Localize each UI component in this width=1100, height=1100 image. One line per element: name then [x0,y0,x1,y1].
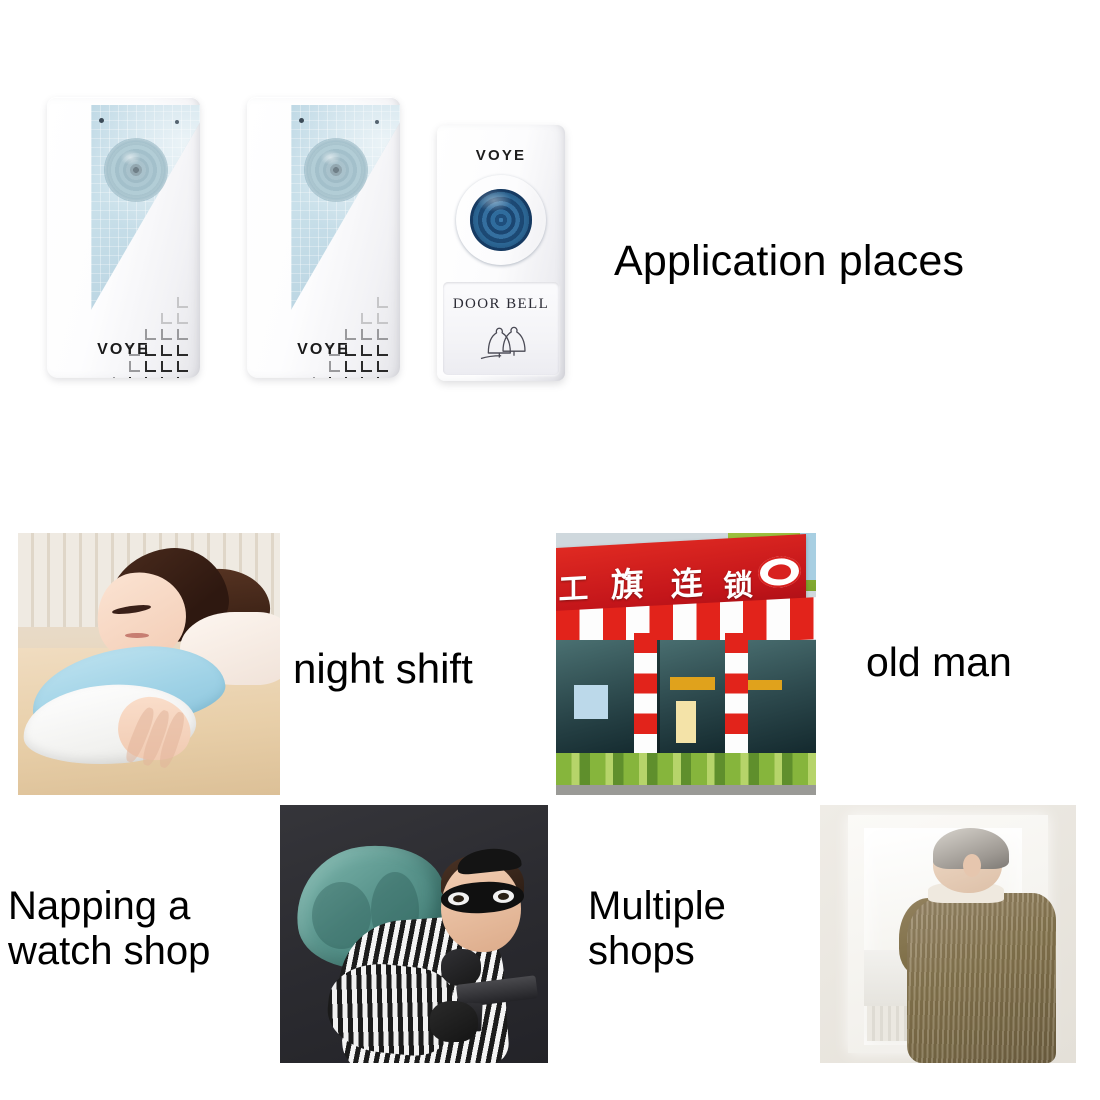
transmitter-brand-label: VOYE [437,147,565,164]
caption-multiple-shops: Multiple shops [588,884,726,974]
grille-mark [377,377,388,378]
sign-character-4: 锁 [723,559,753,605]
sidewalk [556,785,816,795]
sign-character-1: 工 [558,563,588,609]
grille-mark [145,361,156,372]
receiver-screw-dot [375,120,379,124]
shop-banner [670,677,714,690]
doorbell-transmitter-unit: VOYE DOOR BELL [437,125,565,381]
grille-mark [377,297,388,308]
page-canvas: VOYE VOYE VOYE DOOR BELL [0,0,1100,1100]
grille-mark [345,377,356,378]
door-bell-text: DOOR BELL [443,296,559,313]
mask-eye-hole [492,890,514,904]
grille-mark [345,361,356,372]
shop-poster [676,701,697,743]
grille-mark [345,329,356,340]
doorbell-receiver-unit-2: VOYE [247,97,400,378]
grille-mark [129,361,140,372]
grille-mark [177,377,188,378]
caption-night-shift: night shift [293,645,473,692]
caption-application-places: Application places [614,237,964,285]
brown-cardigan [907,893,1055,1063]
gloved-hand-upper [441,949,481,985]
photo-sleeping-woman [18,533,280,795]
receiver-speaker-grille [103,297,197,378]
doorbell-push-button[interactable] [456,175,546,265]
grille-mark [361,329,372,340]
grille-mark [377,329,388,340]
receiver-speaker-grille [303,297,397,378]
grille-mark [329,377,340,378]
receiver-led-dot [299,118,304,123]
caption-old-man: old man [866,640,1012,686]
grille-mark [361,377,372,378]
grille-mark [377,361,388,372]
receiver-led-dot [99,118,104,123]
receiver-brand-label: VOYE [247,341,400,359]
receiver-brand-label: VOYE [47,341,200,359]
transmitter-nameplate: DOOR BELL [443,282,559,375]
shop-logo-icon [758,555,800,588]
grille-mark [161,377,172,378]
gloved-hand-lower [430,1001,478,1042]
pupil [497,893,509,901]
grille-mark [161,313,172,324]
glass-pane [743,640,816,758]
grille-mark [145,377,156,378]
grille-mark [177,313,188,324]
receiver-speaker-lens [105,139,167,201]
receiver-triangle-panel [291,105,400,310]
grille-mark [313,377,324,378]
grille-mark [145,329,156,340]
receiver-screw-dot [175,120,179,124]
caption-napping-watch-shop: Napping a watch shop [8,884,210,974]
sign-character-3: 连 [671,558,703,606]
mouth [125,633,149,638]
receiver-triangle-panel [91,105,200,310]
grille-mark [113,377,124,378]
grille-mark [361,361,372,372]
bells-icon [443,320,559,364]
grille-mark [161,361,172,372]
receiver-speaker-lens [305,139,367,201]
grille-mark [177,297,188,308]
grille-mark [177,361,188,372]
grille-mark [377,313,388,324]
grille-mark [129,377,140,378]
doorbell-receiver-unit-1: VOYE [47,97,200,378]
grille-mark [361,313,372,324]
grille-mark [161,329,172,340]
shop-poster [574,685,608,719]
photo-storefront: 工 旗 连 锁 [556,533,816,795]
shop-banner [748,680,782,690]
mask-eye-hole [447,892,469,906]
grille-mark [177,329,188,340]
product-image-group: VOYE VOYE VOYE DOOR BELL [0,0,600,420]
grille-mark [329,361,340,372]
pupil [452,896,464,904]
photo-burglar [280,805,548,1063]
photo-elderly-man [820,805,1076,1063]
sign-character-2: 旗 [611,557,644,607]
